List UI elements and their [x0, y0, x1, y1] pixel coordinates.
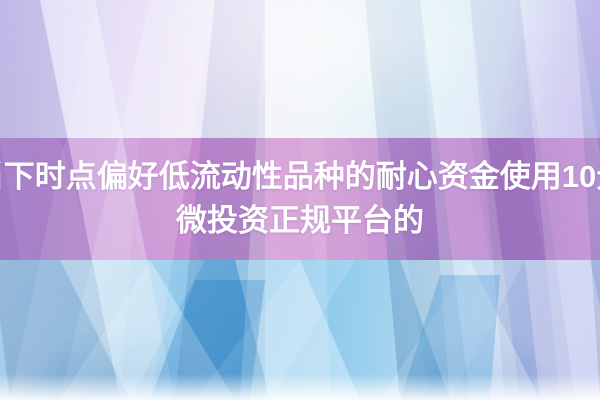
- headline-line-1: 当下时点偏好低流动性品种的耐心资金使用10元: [0, 158, 600, 196]
- decorative-banner: 当下时点偏好低流动性品种的耐心资金使用10元 微投资正规平台的: [0, 0, 600, 400]
- banner-headline: 当下时点偏好低流动性品种的耐心资金使用10元 微投资正规平台的: [0, 138, 600, 260]
- headline-line-2: 微投资正规平台的: [176, 202, 424, 240]
- background-band-bottom: [0, 260, 600, 400]
- background-band-top: [0, 0, 600, 138]
